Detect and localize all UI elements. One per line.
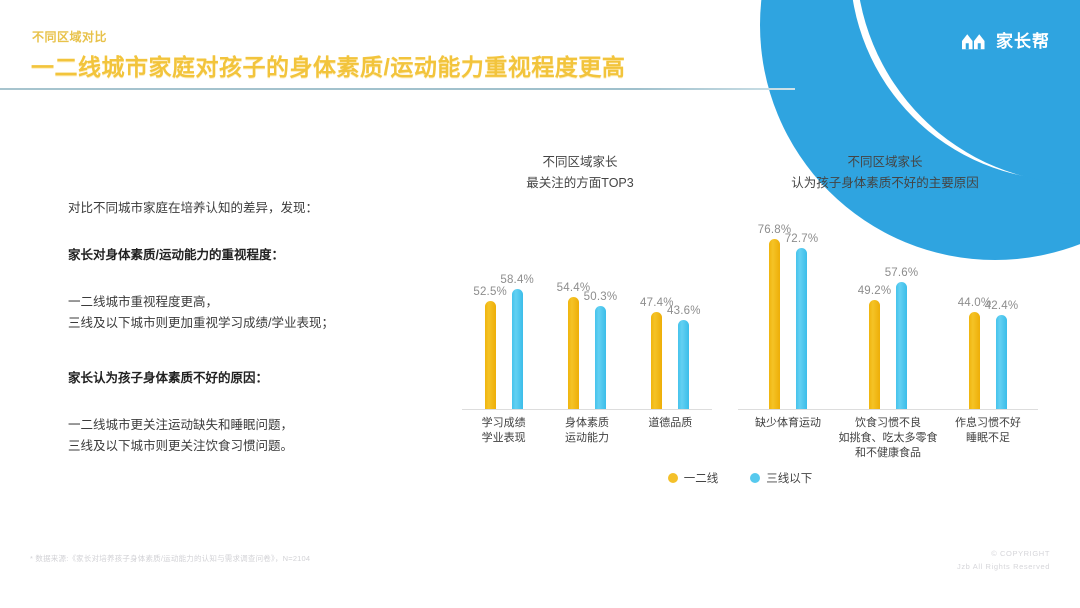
bar-wrap-right-0-0: 76.8%: [769, 232, 780, 409]
bar-left-2-三线以下[interactable]: [678, 320, 689, 409]
bar-wrap-left-1-0: 54.4%: [568, 245, 579, 409]
chart-left-title: 不同区域家长 最关注的方面TOP3: [470, 152, 690, 195]
bar-value-label-left-1-1: 50.3%: [584, 291, 618, 303]
category-line: 道德品质: [629, 416, 712, 431]
chart-right-category-2: 作息习惯不好睡眠不足: [938, 416, 1038, 461]
bar-left-1-一二线[interactable]: [568, 297, 579, 409]
narrative-section2-line1: 一二线城市更关注运动缺失和睡眠问题，: [68, 419, 408, 440]
narrative-section2-title: 家长认为孩子身体素质不好的原因：: [68, 372, 408, 393]
chart-right-group-2: 44.0%42.4%: [938, 232, 1038, 409]
chart-right-title: 不同区域家长 认为孩子身体素质不好的主要原因: [735, 152, 1035, 195]
bar-wrap-left-2-0: 47.4%: [651, 245, 662, 409]
chart-legend: 一二线三线以下: [620, 470, 860, 486]
bar-wrap-left-2-1: 43.6%: [678, 245, 689, 409]
chart-left-group-2: 47.4%43.6%: [629, 245, 712, 409]
legend-item-0[interactable]: 一二线: [668, 470, 719, 486]
chart-right-group-0: 76.8%72.7%: [738, 232, 838, 409]
bar-wrap-right-1-0: 49.2%: [869, 232, 880, 409]
copyright-block: © COPYRIGHT Jzb All Rights Reserved: [957, 548, 1050, 574]
chart-right-category-0: 缺少体育运动: [738, 416, 838, 461]
category-line: 学习成绩: [462, 416, 545, 431]
narrative-section1-line2: 三线及以下城市则更加重视学习成绩/学业表现；: [68, 317, 408, 338]
slide-root: 家长帮 不同区域对比 一二线城市家庭对孩子的身体素质/运动能力重视程度更高 对比…: [0, 0, 1080, 608]
legend-label: 三线以下: [766, 470, 812, 486]
bar-value-label-right-2-1: 42.4%: [985, 300, 1019, 312]
bar-value-label-right-0-1: 72.7%: [785, 233, 819, 245]
chart-right-category-1: 饮食习惯不良如挑食、吃太多零食和不健康食品: [838, 416, 938, 461]
source-footnote: * 数据来源:《家长对培养孩子身体素质/运动能力的认知与需求调查问卷》，N=21…: [30, 553, 310, 564]
bar-wrap-right-1-1: 57.6%: [896, 232, 907, 409]
bar-right-0-三线以下[interactable]: [796, 248, 807, 409]
page-title: 一二线城市家庭对孩子的身体素质/运动能力重视程度更高: [31, 48, 625, 82]
chart-left-axis: [462, 409, 712, 410]
category-line: 睡眠不足: [938, 431, 1038, 446]
narrative-section1-line1: 一二线城市重视程度更高，: [68, 296, 408, 317]
category-line: 作息习惯不好: [938, 416, 1038, 431]
category-line: 如挑食、吃太多零食: [838, 431, 938, 446]
chart-left-plot: 52.5%58.4%54.4%50.3%47.4%43.6%: [462, 245, 712, 410]
bar-value-label-right-1-1: 57.6%: [885, 267, 919, 279]
header-kicker: 不同区域对比: [32, 28, 107, 45]
bar-left-2-一二线[interactable]: [651, 312, 662, 409]
chart-right-groups: 76.8%72.7%49.2%57.6%44.0%42.4%: [738, 232, 1038, 409]
bar-right-2-一二线[interactable]: [969, 312, 980, 409]
chart-right-axis: [738, 409, 1038, 410]
bar-left-0-一二线[interactable]: [485, 301, 496, 409]
bar-wrap-right-0-1: 72.7%: [796, 232, 807, 409]
chart-right-title-line2: 认为孩子身体素质不好的主要原因: [735, 173, 1035, 194]
chart-right-categories: 缺少体育运动饮食习惯不良如挑食、吃太多零食和不健康食品作息习惯不好睡眠不足: [738, 416, 1038, 461]
brand-logo: 家长帮: [959, 30, 1050, 52]
bar-right-2-三线以下[interactable]: [996, 315, 1007, 409]
brand-name: 家长帮: [996, 33, 1050, 50]
chart-right-group-1: 49.2%57.6%: [838, 232, 938, 409]
chart-left-group-1: 54.4%50.3%: [545, 245, 628, 409]
category-line: 身体素质: [545, 416, 628, 431]
legend-label: 一二线: [684, 470, 719, 486]
narrative-intro: 对比不同城市家庭在培养认知的差异，发现：: [68, 202, 408, 223]
bar-left-1-三线以下[interactable]: [595, 306, 606, 409]
bar-value-label-left-2-1: 43.6%: [667, 305, 701, 317]
bar-right-1-三线以下[interactable]: [896, 282, 907, 409]
chart-left-group-0: 52.5%58.4%: [462, 245, 545, 409]
category-line: 学业表现: [462, 431, 545, 446]
legend-swatch-icon: [668, 473, 678, 483]
copyright-line1: © COPYRIGHT: [957, 548, 1050, 561]
bar-left-0-三线以下[interactable]: [512, 289, 523, 409]
bar-right-0-一二线[interactable]: [769, 239, 780, 409]
chart-left-categories: 学习成绩学业表现身体素质运动能力道德品质: [462, 416, 712, 446]
bar-value-label-left-0-0: 52.5%: [473, 286, 507, 298]
narrative-section2-line2: 三线及以下城市则更关注饮食习惯问题。: [68, 440, 408, 461]
header-divider: [0, 88, 795, 90]
copyright-line2: Jzb All Rights Reserved: [957, 561, 1050, 574]
chart-left-title-line2: 最关注的方面TOP3: [470, 173, 690, 194]
chart-left-category-1: 身体素质运动能力: [545, 416, 628, 446]
bar-wrap-right-2-0: 44.0%: [969, 232, 980, 409]
chart-left-title-line1: 不同区域家长: [470, 152, 690, 173]
chart-left-groups: 52.5%58.4%54.4%50.3%47.4%43.6%: [462, 245, 712, 409]
narrative-block: 对比不同城市家庭在培养认知的差异，发现： 家长对身体素质/运动能力的重视程度： …: [68, 202, 408, 461]
chart-left-category-2: 道德品质: [629, 416, 712, 446]
bar-right-1-一二线[interactable]: [869, 300, 880, 409]
bar-value-label-left-0-1: 58.4%: [500, 274, 534, 286]
bar-wrap-right-2-1: 42.4%: [996, 232, 1007, 409]
bar-wrap-left-1-1: 50.3%: [595, 245, 606, 409]
house-logo-icon: [959, 30, 989, 52]
chart-right-title-line1: 不同区域家长: [735, 152, 1035, 173]
bar-wrap-left-0-0: 52.5%: [485, 245, 496, 409]
category-line: 和不健康食品: [838, 446, 938, 461]
legend-swatch-icon: [750, 473, 760, 483]
category-line: 缺少体育运动: [738, 416, 838, 431]
category-line: 饮食习惯不良: [838, 416, 938, 431]
chart-left-category-0: 学习成绩学业表现: [462, 416, 545, 446]
bar-wrap-left-0-1: 58.4%: [512, 245, 523, 409]
narrative-section1-title: 家长对身体素质/运动能力的重视程度：: [68, 249, 408, 270]
bar-value-label-right-1-0: 49.2%: [858, 285, 892, 297]
legend-item-1[interactable]: 三线以下: [750, 470, 812, 486]
chart-right-plot: 76.8%72.7%49.2%57.6%44.0%42.4%: [738, 232, 1038, 410]
category-line: 运动能力: [545, 431, 628, 446]
